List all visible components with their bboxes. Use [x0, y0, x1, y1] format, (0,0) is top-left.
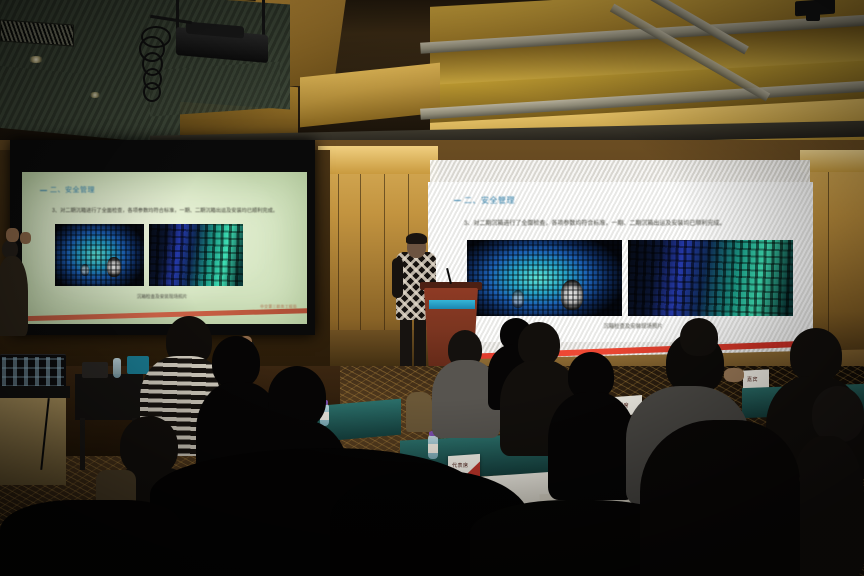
led-video-wall[interactable]: 二、安全管理 3、对二期沉箱进行了全面检查，各项参数均符合标准，一期、二期沉箱出… — [428, 182, 813, 342]
bottle-label — [428, 444, 438, 453]
slide-caption: 沉箱检查及安装现场照片 — [82, 294, 242, 300]
name-card-text: 嘉宾 — [747, 376, 758, 383]
cable-coil — [143, 82, 161, 102]
water-bottle — [113, 358, 121, 378]
av-equipment-table — [75, 374, 143, 420]
console-base — [0, 386, 70, 398]
raised-hand — [6, 228, 19, 242]
teal-bag — [127, 356, 149, 374]
slide-footer: 中交第三航务工程局 — [212, 305, 297, 310]
chair-back — [744, 470, 800, 524]
attendee-body — [548, 392, 636, 500]
slide-image-right — [628, 240, 793, 316]
attendee-head — [212, 336, 260, 388]
name-card-text: 代表席 — [452, 462, 469, 469]
chair-back — [430, 490, 490, 544]
raised-hand — [20, 232, 31, 244]
attendee-head — [812, 386, 864, 442]
laptop-device[interactable] — [82, 362, 108, 378]
track-spotlight-head — [806, 12, 820, 21]
slide-heading: 二、安全管理 — [454, 195, 515, 206]
audio-mixing-console[interactable] — [0, 354, 66, 389]
conference-photo-scene: 二、安全管理 3、对二期沉箱进行了全面检查，各项参数均符合标准，一期、二期沉箱出… — [0, 0, 864, 576]
slide-body-text: 3、对二期沉箱进行了全面检查，各项参数均符合标准，一期、二期沉箱出运及安装均已顺… — [52, 207, 297, 215]
table-leg — [80, 418, 85, 470]
slide-image-left — [467, 240, 622, 316]
wall-cornice-light — [318, 146, 438, 174]
slide-body-text: 3、对二期沉箱进行了全面检查，各项参数均符合标准，一期、二期沉箱出运及安装均已顺… — [464, 220, 800, 229]
attendee-head — [268, 366, 326, 428]
wall-seam — [828, 155, 829, 360]
diver-figure — [81, 264, 89, 276]
ceiling — [0, 0, 864, 152]
speaker-arm — [392, 258, 403, 298]
left-projection-screen[interactable]: 二、安全管理 3、对二期沉箱进行了全面检查，各项参数均符合标准，一期、二期沉箱出… — [22, 172, 307, 324]
bottle-cap — [631, 531, 642, 538]
attendee-body — [246, 420, 350, 550]
water-bottle — [630, 536, 643, 570]
heading-dash-icon — [40, 190, 47, 191]
draped-table-cloth — [0, 395, 66, 485]
ceiling-downlight — [89, 92, 101, 98]
attendee-head — [680, 318, 718, 356]
diver-figure — [107, 257, 121, 277]
heading-dash-icon — [454, 200, 461, 201]
chair-back — [96, 470, 136, 510]
diver-figure — [512, 290, 524, 308]
slide-image-right — [149, 224, 243, 286]
attendee-body — [0, 256, 28, 336]
attendee-grey-sweater — [626, 386, 750, 506]
attendee-head — [790, 328, 842, 382]
attendee-hand — [724, 368, 744, 382]
slide-heading: 二、安全管理 — [40, 185, 95, 195]
acoustic-ceiling-slab — [150, 61, 280, 116]
console-faders — [2, 357, 64, 387]
diver-figure — [561, 280, 583, 310]
ceiling-downlight — [28, 56, 44, 63]
chair-back — [406, 392, 432, 432]
speaker-hair — [406, 233, 427, 244]
slide-image-left — [55, 224, 144, 286]
attendee-body — [790, 436, 864, 576]
podium-accent-band — [429, 300, 475, 309]
